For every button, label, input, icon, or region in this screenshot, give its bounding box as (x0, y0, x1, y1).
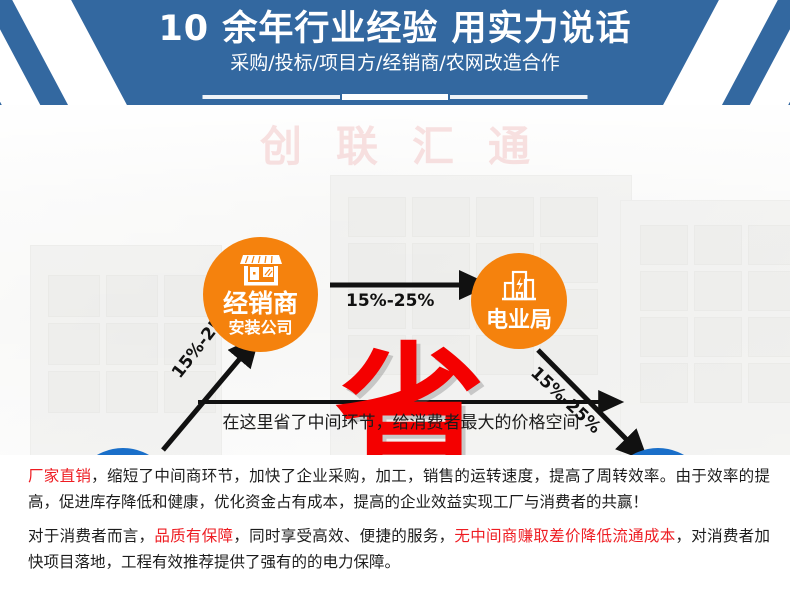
footer-paragraph-1: 厂家直销，缩短了中间商环节，加快了企业采购，加工，销售的运转速度，提高了周转效率… (28, 463, 770, 515)
footer-paragraph-2: 对于消费者而言，品质有保障，同时享受高效、便捷的服务，无中间商赚取差价降低流通成… (28, 523, 770, 575)
node-dealer[interactable]: 经销商 安装公司 (203, 237, 318, 352)
arrow-label-brand-to-consumer: 在这里省了中间环节，给消费者最大的价格空间 (203, 408, 599, 433)
diagram-stage: 创联汇通 15%-25% 15%-25% 15%-25% 在这里省了中间环节，给… (0, 105, 790, 455)
center-highlight-character: 省 (335, 342, 485, 455)
footer-highlight-no-middleman: 无中间商赚取差价降低流通成本 (454, 527, 675, 545)
footer-paragraph-2-lead: 对于消费者而言， (28, 527, 154, 545)
storefront-icon (239, 252, 283, 290)
node-dealer-label: 经销商 (223, 291, 298, 317)
header-subtitle: 采购/投标/项目方/经销商/农网改造合作 (230, 51, 560, 75)
footer-text-block: 厂家直销，缩短了中间商环节，加快了企业采购，加工，销售的运转速度，提高了周转效率… (0, 455, 790, 602)
footer-highlight-manufacturer-direct: 厂家直销 (28, 467, 91, 485)
node-dealer-sublabel: 安装公司 (228, 320, 292, 337)
node-power-bureau-label: 电业局 (486, 309, 552, 332)
header-title: 10 余年行业经验 用实力说话 (158, 8, 631, 50)
header-banner: 10 余年行业经验 用实力说话 采购/投标/项目方/经销商/农网改造合作 (0, 0, 790, 105)
footer-highlight-quality: 品质有保障 (154, 527, 233, 545)
infographic-page: 10 余年行业经验 用实力说话 采购/投标/项目方/经销商/农网改造合作 (0, 0, 790, 602)
arrow-label-dealer-to-bureau: 15%-25% (346, 291, 434, 311)
node-power-bureau[interactable]: 电业局 (471, 253, 567, 349)
footer-paragraph-1-rest: ，缩短了中间商环节，加快了企业采购，加工，销售的运转速度，提高了周转效率。由于效… (28, 467, 770, 511)
power-building-icon (499, 269, 539, 307)
footer-paragraph-2-middle: ，同时享受高效、便捷的服务， (233, 527, 454, 545)
